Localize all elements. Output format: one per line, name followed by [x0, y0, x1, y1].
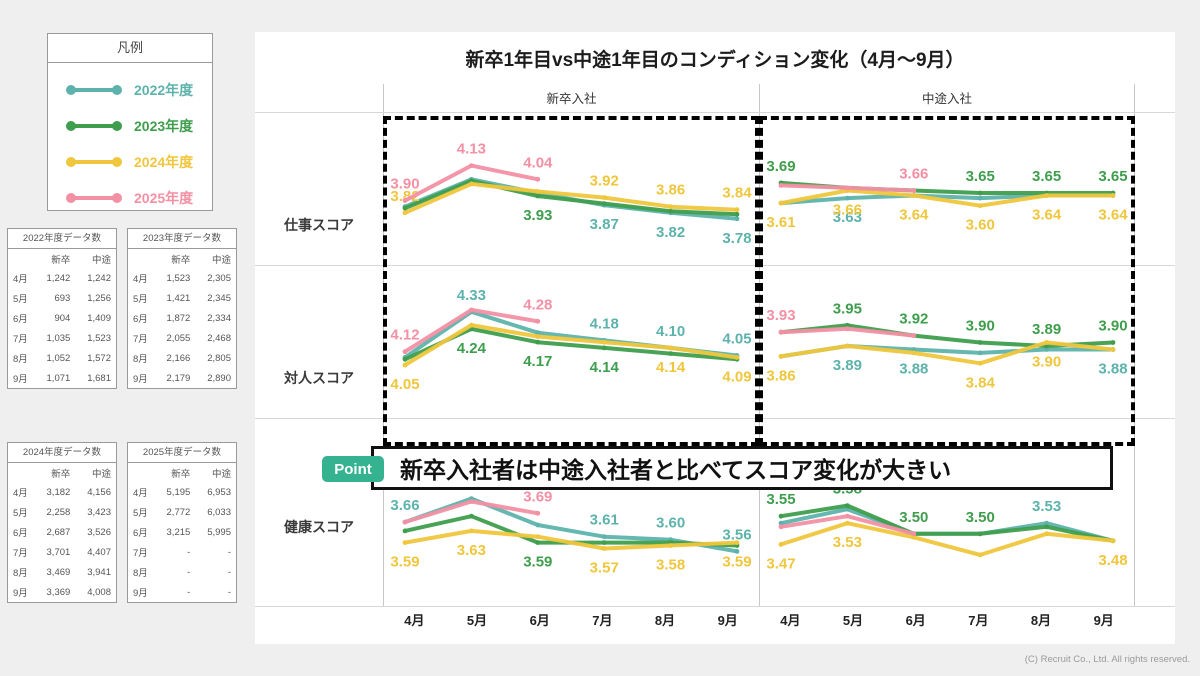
- table-cell: 1,242: [75, 268, 116, 288]
- point-callout-text: 新卒入社者は中途入社者と比べてスコア変化が大きい: [374, 451, 951, 485]
- table-body: 新卒中途4月5,1956,9535月2,7726,0336月3,2155,995…: [128, 463, 236, 602]
- table-cell: 1,035: [35, 328, 76, 348]
- data-point: [535, 334, 540, 339]
- data-label: 3.88: [899, 361, 928, 378]
- table-row: 6月2,6873,526: [8, 522, 116, 542]
- data-point: [602, 201, 607, 206]
- data-point: [535, 194, 540, 199]
- data-label: 3.50: [966, 509, 995, 526]
- data-label: 4.14: [656, 359, 686, 376]
- data-point: [978, 340, 983, 345]
- table-header-cell: 新卒: [35, 463, 76, 482]
- data-point: [535, 189, 540, 194]
- legend-item-2: 2023年度: [48, 108, 212, 144]
- table-cell: -: [195, 562, 236, 582]
- data-point: [1111, 538, 1116, 543]
- chart-card: 新卒1年目vs中途1年目のコンディション変化（4月～9月） 新卒入社 中途入社 …: [255, 32, 1175, 644]
- data-point: [602, 540, 607, 545]
- table-cell: 2,179: [155, 368, 196, 388]
- data-label: 4.13: [457, 141, 486, 158]
- plot-interpersonal-shinsotsu: 4.334.184.104.054.244.174.144.054.144.09…: [383, 266, 759, 418]
- data-label: 3.66: [833, 202, 862, 219]
- data-point: [602, 546, 607, 551]
- data-point: [602, 534, 607, 539]
- table-cell: 8月: [8, 562, 35, 582]
- data-point: [978, 531, 983, 536]
- data-label: 3.55: [766, 491, 795, 508]
- data-label: 3.90: [390, 176, 419, 193]
- plot-work-chuto: 3.633.693.653.653.653.613.663.643.603.64…: [759, 113, 1135, 265]
- data-count-table-2025: 2025年度データ数 新卒中途4月5,1956,9535月2,7726,0336…: [127, 442, 237, 603]
- group-header-chuto: 中途入社: [759, 84, 1135, 112]
- table-cell: 8月: [128, 562, 155, 582]
- table-cell: 3,526: [75, 522, 116, 542]
- data-point: [735, 207, 740, 212]
- data-point: [978, 196, 983, 201]
- data-point: [469, 529, 474, 534]
- table-cell: 4,407: [75, 542, 116, 562]
- chart-row-interpersonal: 対人スコア 4.334.184.104.054.244.174.144.054.…: [255, 266, 1175, 418]
- data-point: [535, 540, 540, 545]
- x-tick-2: 5月: [822, 606, 885, 644]
- x-tick-4: 7月: [571, 606, 634, 644]
- data-point: [735, 540, 740, 545]
- x-axis-ticks-chuto: 4月5月6月7月8月9月: [759, 606, 1135, 644]
- data-point: [845, 196, 850, 201]
- data-point: [668, 209, 673, 214]
- table-cell: 3,701: [35, 542, 76, 562]
- data-label: 4.17: [523, 353, 552, 370]
- data-point: [403, 206, 408, 211]
- table-row: 9月1,0711,681: [8, 368, 116, 388]
- table-header-cell: 新卒: [35, 249, 76, 268]
- data-label: 3.64: [1098, 207, 1128, 224]
- data-label: 4.14: [590, 359, 620, 376]
- table-cell: 4月: [8, 482, 35, 502]
- table-cell: 1,071: [35, 368, 76, 388]
- data-count-table-2022: 2022年度データ数 新卒中途4月1,2421,2425月6931,2566月9…: [7, 228, 117, 389]
- data-point: [403, 540, 408, 545]
- legend-item-3: 2024年度: [48, 144, 212, 180]
- group-header: 新卒入社 中途入社: [255, 84, 1175, 112]
- x-tick-4: 7月: [947, 606, 1010, 644]
- table-cell: 7月: [8, 542, 35, 562]
- data-point: [469, 499, 474, 504]
- x-tick-3: 6月: [884, 606, 947, 644]
- data-point: [535, 511, 540, 516]
- data-label: 3.88: [1098, 361, 1127, 378]
- x-tick-6: 9月: [1072, 606, 1135, 644]
- table-cell: -: [155, 582, 196, 602]
- table-title: 2023年度データ数: [128, 229, 236, 249]
- table-cell: 8月: [8, 348, 35, 368]
- data-point: [1111, 193, 1116, 198]
- table-title: 2024年度データ数: [8, 443, 116, 463]
- x-axis-ticks-shinsotsu: 4月5月6月7月8月9月: [383, 606, 759, 644]
- data-label: 3.92: [590, 173, 619, 190]
- data-point: [1044, 531, 1049, 536]
- table-cell: 1,421: [155, 288, 196, 308]
- data-point: [668, 346, 673, 351]
- table-row: 4月5,1956,953: [128, 482, 236, 502]
- data-label: 4.12: [390, 327, 419, 344]
- data-label: 3.69: [523, 488, 552, 505]
- table-cell: 9月: [8, 368, 35, 388]
- table-row: 9月2,1792,890: [128, 368, 236, 388]
- table-header-cell: 新卒: [155, 249, 196, 268]
- table-body: 新卒中途4月1,2421,2425月6931,2566月9041,4097月1,…: [8, 249, 116, 388]
- data-label: 3.60: [966, 217, 995, 234]
- data-label: 4.33: [457, 287, 486, 304]
- data-point: [978, 203, 983, 208]
- data-point: [469, 514, 474, 519]
- table-cell: 5,995: [195, 522, 236, 542]
- table-header-cell: [8, 463, 35, 482]
- data-label: 4.28: [523, 296, 552, 313]
- data-point: [668, 351, 673, 356]
- data-point: [1111, 340, 1116, 345]
- x-tick-3: 6月: [508, 606, 571, 644]
- table-cell: 4月: [128, 482, 155, 502]
- table-cell: -: [155, 562, 196, 582]
- data-label: 3.95: [833, 300, 862, 317]
- data-label: 3.57: [590, 560, 619, 577]
- data-point: [403, 520, 408, 525]
- data-label: 3.63: [457, 542, 486, 559]
- data-label: 3.66: [899, 166, 928, 183]
- table-body: 新卒中途4月1,5232,3055月1,4212,3456月1,8722,334…: [128, 249, 236, 388]
- table-header-cell: 新卒: [155, 463, 196, 482]
- table-row: 8月2,1662,805: [128, 348, 236, 368]
- legend-line-icon: [66, 192, 122, 204]
- table-cell: 904: [35, 308, 76, 328]
- legend-line-icon: [66, 120, 122, 132]
- data-point: [602, 346, 607, 351]
- table-cell: 4月: [8, 268, 35, 288]
- page-title: 新卒1年目vs中途1年目のコンディション変化（4月～9月）: [255, 32, 1175, 72]
- data-point: [911, 188, 916, 193]
- table-cell: 1,242: [35, 268, 76, 288]
- data-point: [779, 330, 784, 335]
- table-cell: 2,687: [35, 522, 76, 542]
- table-cell: 5月: [8, 288, 35, 308]
- data-point: [735, 216, 740, 221]
- data-label: 3.93: [766, 307, 795, 324]
- table-row: 4月1,5232,305: [128, 268, 236, 288]
- table-title: 2022年度データ数: [8, 229, 116, 249]
- data-point: [845, 186, 850, 191]
- data-label: 3.89: [1032, 321, 1061, 338]
- data-point: [911, 333, 916, 338]
- data-point: [779, 542, 784, 547]
- table-cell: 7月: [8, 328, 35, 348]
- table-row: 7月2,0552,468: [128, 328, 236, 348]
- data-point: [911, 531, 916, 536]
- table-cell: 2,334: [195, 308, 236, 328]
- data-label: 3.64: [899, 207, 929, 224]
- data-label: 3.53: [1032, 498, 1061, 515]
- legend-item-1: 2022年度: [48, 72, 212, 108]
- table-cell: 1,256: [75, 288, 116, 308]
- table-row: 5月2,2583,423: [8, 502, 116, 522]
- data-point: [779, 524, 784, 529]
- data-label: 3.93: [523, 207, 552, 224]
- table-row: 6月3,2155,995: [128, 522, 236, 542]
- data-label: 4.09: [722, 368, 751, 385]
- data-point: [469, 163, 474, 168]
- data-label: 3.86: [766, 367, 795, 384]
- table-cell: 2,890: [195, 368, 236, 388]
- table-body: 新卒中途4月3,1824,1565月2,2583,4236月2,6873,526…: [8, 463, 116, 602]
- table-cell: 7月: [128, 328, 155, 348]
- data-label: 4.05: [390, 376, 419, 393]
- data-count-table-2024: 2024年度データ数 新卒中途4月3,1824,1565月2,2583,4236…: [7, 442, 117, 603]
- table-cell: 2,305: [195, 268, 236, 288]
- row-label-health: 健康スコア: [255, 517, 383, 537]
- legend-item-label: 2024年度: [134, 152, 193, 172]
- table-cell: 1,052: [35, 348, 76, 368]
- table-row: 6月1,8722,334: [128, 308, 236, 328]
- row-label-interpersonal: 対人スコア: [255, 368, 383, 388]
- table-header-row: 新卒中途: [8, 463, 116, 482]
- data-point: [469, 308, 474, 313]
- table-cell: 3,469: [35, 562, 76, 582]
- table-cell: 5月: [128, 288, 155, 308]
- data-point: [602, 340, 607, 345]
- legend-item-label: 2022年度: [134, 80, 193, 100]
- data-point: [779, 201, 784, 206]
- table-cell: 3,423: [75, 502, 116, 522]
- table-cell: 1,523: [75, 328, 116, 348]
- table-cell: 2,166: [155, 348, 196, 368]
- data-label: 3.61: [590, 512, 619, 529]
- table-header-cell: [128, 463, 155, 482]
- data-label: 3.86: [656, 182, 685, 199]
- table-cell: 9月: [128, 582, 155, 602]
- copyright-footer: (C) Recruit Co., Ltd. All rights reserve…: [1025, 654, 1190, 665]
- table-cell: 3,182: [35, 482, 76, 502]
- data-point: [535, 340, 540, 345]
- data-label: 4.10: [656, 323, 685, 340]
- data-label: 3.53: [833, 534, 862, 551]
- data-label: 4.04: [523, 154, 553, 171]
- table-cell: 2,055: [155, 328, 196, 348]
- data-label: 3.59: [523, 554, 552, 571]
- table-header-cell: 中途: [195, 249, 236, 268]
- table-row: 5月1,4212,345: [128, 288, 236, 308]
- table-cell: 1,409: [75, 308, 116, 328]
- table-row: 5月2,7726,033: [128, 502, 236, 522]
- data-label: 3.90: [1098, 318, 1127, 335]
- data-label: 3.78: [722, 230, 751, 247]
- data-point: [535, 177, 540, 182]
- table-cell: 4月: [128, 268, 155, 288]
- table-cell: 3,215: [155, 522, 196, 542]
- data-label: 3.84: [966, 374, 996, 391]
- table-row: 8月3,4693,941: [8, 562, 116, 582]
- table-cell: 3,369: [35, 582, 76, 602]
- data-point: [779, 514, 784, 519]
- table-cell: -: [195, 542, 236, 562]
- table-cell: 6月: [128, 308, 155, 328]
- table-row: 6月9041,409: [8, 308, 116, 328]
- data-label: 3.90: [966, 318, 995, 335]
- table-row: 9月3,3694,008: [8, 582, 116, 602]
- data-label: 3.50: [899, 509, 928, 526]
- data-label: 3.89: [833, 357, 862, 374]
- data-point: [735, 212, 740, 217]
- data-label: 4.18: [590, 315, 619, 332]
- data-point: [978, 361, 983, 366]
- table-header-cell: 中途: [195, 463, 236, 482]
- x-axis: 4月5月6月7月8月9月 4月5月6月7月8月9月: [255, 606, 1175, 644]
- table-cell: 1,872: [155, 308, 196, 328]
- table-header-cell: [8, 249, 35, 268]
- data-label: 3.92: [899, 311, 928, 328]
- data-label: 3.69: [766, 158, 795, 175]
- data-label: 3.84: [722, 185, 752, 202]
- table-cell: 4,156: [75, 482, 116, 502]
- data-point: [978, 351, 983, 356]
- data-label: 3.60: [656, 515, 685, 532]
- data-label: 3.65: [1032, 168, 1061, 185]
- legend-item-4: 2025年度: [48, 180, 212, 216]
- legend-title: 凡例: [48, 34, 212, 63]
- data-label: 3.82: [656, 224, 685, 241]
- legend-item-label: 2023年度: [134, 116, 193, 136]
- table-row: 9月--: [128, 582, 236, 602]
- table-header-cell: 中途: [75, 463, 116, 482]
- table-cell: 2,345: [195, 288, 236, 308]
- table-cell: 8月: [128, 348, 155, 368]
- line-series-2024年度: [405, 531, 737, 549]
- data-point: [911, 193, 916, 198]
- table-cell: 2,258: [35, 502, 76, 522]
- table-title: 2025年度データ数: [128, 443, 236, 463]
- data-label: 3.65: [966, 168, 995, 185]
- table-cell: 693: [35, 288, 76, 308]
- data-label: 3.48: [1098, 552, 1127, 569]
- table-header-row: 新卒中途: [128, 463, 236, 482]
- table-row: 7月1,0351,523: [8, 328, 116, 348]
- data-point: [845, 514, 850, 519]
- data-count-table-2023: 2023年度データ数 新卒中途4月1,5232,3055月1,4212,3456…: [127, 228, 237, 389]
- table-cell: 3,941: [75, 562, 116, 582]
- table-row: 5月6931,256: [8, 288, 116, 308]
- table-row: 8月1,0521,572: [8, 348, 116, 368]
- data-point: [403, 198, 408, 203]
- table-cell: 6月: [8, 522, 35, 542]
- data-point: [779, 183, 784, 188]
- data-point: [978, 553, 983, 558]
- table-cell: 6,033: [195, 502, 236, 522]
- row-label-work: 仕事スコア: [255, 215, 383, 235]
- data-label: 3.66: [390, 497, 419, 514]
- data-point: [735, 355, 740, 360]
- table-row: 7月--: [128, 542, 236, 562]
- data-point: [1044, 524, 1049, 529]
- table-cell: 2,805: [195, 348, 236, 368]
- legend-item-list: 2022年度2023年度2024年度2025年度: [48, 63, 212, 216]
- data-label: 3.90: [1032, 354, 1061, 371]
- legend-panel: 凡例 2022年度2023年度2024年度2025年度: [47, 33, 213, 211]
- legend-line-icon: [66, 156, 122, 168]
- table-cell: 6月: [128, 522, 155, 542]
- table-header-cell: [128, 249, 155, 268]
- plot-interpersonal-chuto: 3.893.883.883.953.923.903.893.903.863.84…: [759, 266, 1135, 418]
- table-cell: 5,195: [155, 482, 196, 502]
- table-cell: -: [195, 582, 236, 602]
- table-header-cell: 中途: [75, 249, 116, 268]
- legend-line-icon: [66, 84, 122, 96]
- data-point: [978, 191, 983, 196]
- table-row: 4月3,1824,156: [8, 482, 116, 502]
- table-cell: 1,523: [155, 268, 196, 288]
- data-label: 3.47: [766, 555, 795, 572]
- x-tick-1: 4月: [383, 606, 446, 644]
- table-row: 4月1,2421,242: [8, 268, 116, 288]
- table-cell: 7月: [128, 542, 155, 562]
- data-point: [403, 357, 408, 362]
- data-point: [403, 363, 408, 368]
- legend-item-label: 2025年度: [134, 188, 193, 208]
- data-point: [779, 354, 784, 359]
- data-point: [845, 503, 850, 508]
- x-tick-5: 8月: [634, 606, 697, 644]
- table-cell: 6月: [8, 308, 35, 328]
- data-label: 3.61: [766, 214, 795, 231]
- data-point: [1044, 193, 1049, 198]
- data-point: [911, 351, 916, 356]
- data-point: [1111, 347, 1116, 352]
- x-tick-2: 5月: [446, 606, 509, 644]
- table-header-row: 新卒中途: [8, 249, 116, 268]
- data-point: [403, 349, 408, 354]
- data-point: [668, 204, 673, 209]
- table-cell: 5月: [128, 502, 155, 522]
- point-badge: Point: [322, 456, 384, 482]
- point-callout: 新卒入社者は中途入社者と比べてスコア変化が大きい: [371, 446, 1113, 490]
- data-point: [845, 326, 850, 331]
- chart-row-work: 仕事スコア 3.873.823.783.933.823.923.863.843.…: [255, 113, 1175, 265]
- table-cell: 6,953: [195, 482, 236, 502]
- data-point: [403, 529, 408, 534]
- x-tick-1: 4月: [759, 606, 822, 644]
- table-row: 8月--: [128, 562, 236, 582]
- data-point: [602, 195, 607, 200]
- group-header-shinsotsu: 新卒入社: [383, 84, 759, 112]
- data-point: [845, 521, 850, 526]
- data-point: [469, 182, 474, 187]
- data-label: 3.65: [1098, 168, 1127, 185]
- table-row: 7月3,7014,407: [8, 542, 116, 562]
- data-point: [469, 323, 474, 328]
- x-tick-6: 9月: [696, 606, 759, 644]
- data-point: [845, 344, 850, 349]
- data-label: 4.05: [722, 331, 751, 348]
- table-cell: 4,008: [75, 582, 116, 602]
- data-label: 3.59: [722, 554, 751, 571]
- data-point: [1044, 340, 1049, 345]
- table-cell: 1,681: [75, 368, 116, 388]
- table-cell: 9月: [8, 582, 35, 602]
- table-cell: 2,772: [155, 502, 196, 522]
- x-tick-5: 8月: [1010, 606, 1073, 644]
- table-cell: 5月: [8, 502, 35, 522]
- table-cell: 9月: [128, 368, 155, 388]
- table-cell: 2,468: [195, 328, 236, 348]
- plot-work-shinsotsu: 3.873.823.783.933.823.923.863.843.904.13…: [383, 113, 759, 265]
